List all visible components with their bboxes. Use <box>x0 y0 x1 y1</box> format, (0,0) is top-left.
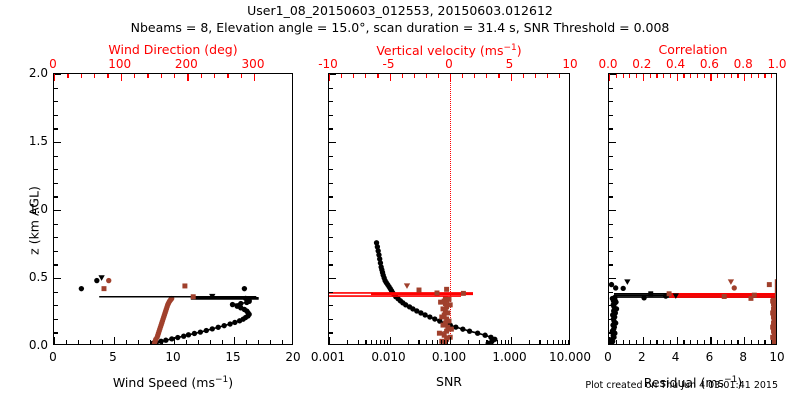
top-x-tick-mark-minor <box>724 74 725 78</box>
top-x-tick-label: 0.4 <box>666 58 685 70</box>
top-x-tick-mark-minor <box>629 74 630 78</box>
bottom-x-tick-mark-minor <box>670 340 671 344</box>
bottom-x-tick-mark <box>174 337 175 344</box>
y-tick-mark <box>54 210 61 211</box>
y-tick-mark <box>329 101 333 102</box>
top-x-tick-mark <box>390 74 391 81</box>
top-x-tick-mark <box>609 74 610 81</box>
top-x-tick-mark <box>121 74 122 81</box>
bottom-x-tick-label: 10 <box>769 351 784 363</box>
y-tick-mark <box>329 237 333 238</box>
panel-snr-bottom-axis-label: SNR <box>436 376 462 389</box>
figure-canvas: User1_08_20150603_012553, 20150603.01261… <box>0 0 800 400</box>
bottom-x-tick-mark-minor <box>138 340 139 344</box>
bottom-x-tick-mark-minor <box>437 340 438 344</box>
bottom-x-tick-mark-minor <box>764 340 765 344</box>
series-point <box>475 331 480 336</box>
top-x-tick-mark-minor <box>683 74 684 78</box>
outlier-point <box>728 279 734 285</box>
top-x-tick-mark-minor <box>636 74 637 78</box>
top-x-tick-label: 5 <box>506 58 514 70</box>
bottom-x-tick-label: 0 <box>49 351 57 363</box>
bottom-x-tick-label: 1.000 <box>492 351 526 363</box>
bottom-x-tick-label: 15 <box>225 351 240 363</box>
series-point <box>186 332 191 337</box>
top-x-tick-mark-minor <box>704 74 705 78</box>
top-x-tick-mark-minor <box>377 74 378 78</box>
bottom-x-tick-mark-minor <box>558 340 559 344</box>
bottom-x-tick-mark-minor <box>387 340 388 344</box>
outlier-point <box>79 286 84 291</box>
series-point <box>181 333 186 338</box>
top-x-tick-mark-minor <box>201 74 202 78</box>
panel-wind-top-axis-label: Wind Direction (deg) <box>108 44 237 57</box>
outlier-point <box>667 291 672 296</box>
y-tick-mark <box>54 183 58 184</box>
series-point <box>374 240 379 245</box>
bottom-x-tick-mark-minor <box>508 340 509 344</box>
y-tick-mark <box>329 156 333 157</box>
y-tick-mark <box>329 224 333 225</box>
panel-wind <box>53 73 293 345</box>
bottom-x-tick-mark-minor <box>376 340 377 344</box>
bottom-x-tick-mark-minor <box>90 340 91 344</box>
top-x-tick-mark-minor <box>663 74 664 78</box>
top-x-tick-mark-minor <box>486 74 487 78</box>
y-tick-mark <box>54 196 58 197</box>
outlier-point <box>106 278 111 283</box>
series-point <box>230 302 235 307</box>
outlier-point <box>641 295 646 300</box>
top-x-tick-mark-minor <box>214 74 215 78</box>
panel-snr <box>328 73 570 345</box>
bottom-x-tick-mark-minor <box>162 340 163 344</box>
series-point <box>198 329 203 334</box>
bottom-x-tick-mark-minor <box>529 340 530 344</box>
bottom-x-tick-mark-minor <box>771 340 772 344</box>
bottom-x-tick-mark-minor <box>358 340 359 344</box>
bottom-x-tick-mark-minor <box>663 340 664 344</box>
top-x-tick-mark-minor <box>547 74 548 78</box>
top-x-tick-label: 100 <box>108 58 131 70</box>
y-tick-mark <box>54 319 58 320</box>
y-tick-mark <box>329 210 336 211</box>
series-point <box>238 301 243 306</box>
bottom-x-tick-label: 10 <box>165 351 180 363</box>
top-x-tick-mark <box>54 74 55 81</box>
outlier-point <box>613 285 618 290</box>
bottom-x-tick-mark-minor <box>270 340 271 344</box>
y-tick-mark <box>54 264 58 265</box>
top-x-tick-label: 0.8 <box>734 58 753 70</box>
bottom-x-tick-mark-minor <box>650 340 651 344</box>
bottom-x-tick-mark-minor <box>690 340 691 344</box>
outlier-point <box>722 294 727 299</box>
panel-residual-plot-area <box>609 74 776 344</box>
bottom-x-tick-mark-minor <box>426 340 427 344</box>
y-tick-mark <box>54 128 58 129</box>
top-x-tick-mark-minor <box>147 74 148 78</box>
y-tick-mark <box>609 224 613 225</box>
panel-wind-series-layer <box>54 74 292 344</box>
top-x-tick-mark-minor <box>438 74 439 78</box>
top-x-tick-mark <box>187 74 188 81</box>
top-x-tick-label: 0 <box>49 58 57 70</box>
top-x-tick-label: -10 <box>318 58 338 70</box>
bottom-x-tick-mark-minor <box>258 340 259 344</box>
panel-snr-plot-area <box>329 74 569 344</box>
top-x-tick-mark-minor <box>227 74 228 78</box>
y-tick-mark <box>329 128 333 129</box>
figure-title-line1: User1_08_20150603_012553, 20150603.01261… <box>247 5 553 18</box>
bottom-x-tick-label: 0.100 <box>432 351 466 363</box>
top-x-tick-mark-minor <box>414 74 415 78</box>
top-x-tick-mark-minor <box>353 74 354 78</box>
top-x-tick-mark <box>677 74 678 81</box>
top-x-tick-mark <box>450 74 451 81</box>
y-tick-mark <box>54 305 58 306</box>
outlier-point <box>732 285 737 290</box>
bottom-x-tick-mark <box>677 337 678 344</box>
bottom-x-tick-mark-minor <box>683 340 684 344</box>
y-tick-mark <box>54 142 61 143</box>
bottom-x-tick-mark-minor <box>444 340 445 344</box>
series-point <box>467 328 472 333</box>
bottom-x-tick-mark <box>234 337 235 344</box>
outlier-point <box>624 279 630 285</box>
y-tick-mark <box>609 332 613 333</box>
series-point <box>453 324 458 329</box>
top-x-tick-mark-minor <box>737 74 738 78</box>
bottom-x-tick-mark <box>511 337 512 344</box>
top-x-tick-mark-minor <box>690 74 691 78</box>
bottom-x-tick-mark <box>450 337 451 344</box>
top-x-tick-label: -5 <box>383 58 395 70</box>
y-tick-mark <box>609 292 613 293</box>
bottom-x-tick-mark <box>390 337 391 344</box>
top-x-tick-mark <box>744 74 745 81</box>
bottom-x-tick-mark-minor <box>102 340 103 344</box>
y-tick-label: 1.0 <box>29 203 48 215</box>
y-tick-mark <box>329 251 333 252</box>
series-point <box>427 314 432 319</box>
y-tick-label: 0.5 <box>29 271 48 283</box>
bottom-x-tick-mark-minor <box>505 340 506 344</box>
outlier-point <box>621 286 626 291</box>
top-x-tick-mark-minor <box>670 74 671 78</box>
top-x-tick-mark-minor <box>650 74 651 78</box>
bottom-x-tick-mark-minor <box>636 340 637 344</box>
bottom-x-tick-mark <box>114 337 115 344</box>
top-x-tick-mark-minor <box>161 74 162 78</box>
top-x-tick-mark-minor <box>134 74 135 78</box>
y-tick-mark <box>54 237 58 238</box>
outlier-point <box>609 282 614 287</box>
top-x-tick-mark-minor <box>616 74 617 78</box>
top-x-tick-mark-minor <box>559 74 560 78</box>
bottom-x-tick-mark-minor <box>246 340 247 344</box>
y-tick-mark <box>329 142 336 143</box>
outlier-point <box>748 296 753 301</box>
top-x-tick-mark-minor <box>241 74 242 78</box>
top-x-tick-mark-minor <box>474 74 475 78</box>
bottom-x-tick-mark-minor <box>198 340 199 344</box>
y-tick-mark <box>609 156 613 157</box>
y-tick-label: 0.0 <box>29 339 48 351</box>
top-x-tick-label: 0.6 <box>700 58 719 70</box>
top-x-tick-mark-minor <box>731 74 732 78</box>
outlier-point <box>444 287 449 292</box>
top-x-tick-mark-minor <box>535 74 536 78</box>
bottom-x-tick-mark-minor <box>704 340 705 344</box>
bottom-x-tick-label: 10.000 <box>549 351 591 363</box>
y-tick-mark <box>609 196 613 197</box>
y-tick-mark <box>54 115 58 116</box>
y-tick-mark <box>329 115 333 116</box>
series-point <box>432 316 437 321</box>
y-tick-mark <box>329 319 333 320</box>
top-x-tick-label: 300 <box>242 58 265 70</box>
outlier-point <box>242 286 247 291</box>
bottom-x-tick-mark <box>744 337 745 344</box>
top-x-tick-mark-minor <box>365 74 366 78</box>
bottom-x-tick-mark-minor <box>697 340 698 344</box>
y-tick-mark <box>609 264 613 265</box>
bottom-x-tick-mark-minor <box>432 340 433 344</box>
bottom-x-tick-mark-minor <box>486 340 487 344</box>
bottom-x-tick-mark <box>710 337 711 344</box>
bottom-x-tick-mark <box>54 337 55 344</box>
series-point <box>210 326 215 331</box>
y-tick-mark <box>329 305 333 306</box>
bottom-x-tick-mark-minor <box>384 340 385 344</box>
bottom-x-tick-mark-minor <box>731 340 732 344</box>
y-tick-mark <box>609 251 613 252</box>
bottom-x-tick-mark-minor <box>751 340 752 344</box>
bottom-x-tick-mark-minor <box>717 340 718 344</box>
bottom-x-tick-label: 0.010 <box>371 351 405 363</box>
y-tick-mark <box>54 156 58 157</box>
top-x-tick-mark <box>329 74 330 81</box>
series-point <box>460 326 465 331</box>
y-tick-mark <box>609 88 613 89</box>
top-x-tick-mark-minor <box>94 74 95 78</box>
bottom-x-tick-mark-minor <box>492 340 493 344</box>
series-point <box>448 302 453 307</box>
top-x-tick-mark-minor <box>341 74 342 78</box>
top-x-tick-mark-minor <box>426 74 427 78</box>
bottom-x-tick-mark-minor <box>441 340 442 344</box>
top-x-tick-mark-minor <box>717 74 718 78</box>
top-x-tick-mark <box>710 74 711 81</box>
bottom-x-tick-mark-minor <box>66 340 67 344</box>
bottom-x-tick-mark-minor <box>408 340 409 344</box>
top-x-tick-mark-minor <box>751 74 752 78</box>
top-x-tick-mark-minor <box>523 74 524 78</box>
y-tick-mark <box>329 264 333 265</box>
bottom-x-tick-mark-minor <box>629 340 630 344</box>
y-tick-mark <box>329 183 333 184</box>
series-point <box>232 320 237 325</box>
series-point <box>216 325 221 330</box>
series-point <box>204 328 209 333</box>
top-x-tick-mark-minor <box>498 74 499 78</box>
panel-snr-series-layer <box>329 74 569 344</box>
y-tick-mark <box>54 332 58 333</box>
series-point <box>437 331 442 336</box>
bottom-x-tick-mark-minor <box>126 340 127 344</box>
y-tick-mark <box>609 319 613 320</box>
series-point <box>227 321 232 326</box>
bottom-x-tick-mark-minor <box>78 340 79 344</box>
figure-subtitle-line2: Nbeams = 8, Elevation angle = 15.0°, sca… <box>131 22 670 35</box>
bottom-x-tick-label: 6 <box>706 351 714 363</box>
y-tick-mark <box>609 210 616 211</box>
outlier-point <box>182 283 187 288</box>
outlier-point <box>404 283 410 289</box>
bottom-x-tick-label: 8 <box>739 351 747 363</box>
top-x-tick-label: 0.2 <box>632 58 651 70</box>
bottom-x-tick-mark <box>643 337 644 344</box>
bottom-x-tick-mark-minor <box>150 340 151 344</box>
y-tick-mark <box>54 169 58 170</box>
top-x-tick-mark-minor <box>67 74 68 78</box>
panel-residual-series-layer <box>609 74 776 344</box>
series-point <box>163 338 168 343</box>
bottom-x-tick-mark-minor <box>758 340 759 344</box>
bottom-x-tick-mark-minor <box>616 340 617 344</box>
y-tick-mark <box>609 169 613 170</box>
top-x-tick-label: 200 <box>175 58 198 70</box>
y-tick-mark <box>54 101 58 102</box>
top-x-tick-label: 10 <box>562 58 577 70</box>
top-x-tick-mark-minor <box>623 74 624 78</box>
y-tick-mark <box>609 115 613 116</box>
y-tick-mark <box>329 332 333 333</box>
y-tick-mark <box>609 142 616 143</box>
bottom-x-tick-label: 2 <box>638 351 646 363</box>
top-x-tick-mark-minor <box>462 74 463 78</box>
y-tick-mark <box>329 196 333 197</box>
y-tick-mark <box>609 128 613 129</box>
panel-wind-bottom-axis-label: Wind Speed (ms−1) <box>113 376 233 390</box>
panel-residual <box>608 73 777 345</box>
panel-residual-bottom-axis-label: Residual (ms−1) <box>644 376 743 390</box>
bottom-x-tick-mark-minor <box>222 340 223 344</box>
bottom-x-tick-mark-minor <box>547 340 548 344</box>
top-x-tick-mark-minor <box>81 74 82 78</box>
bottom-x-tick-mark-minor <box>568 340 569 344</box>
y-tick-label: 1.5 <box>29 135 48 147</box>
y-tick-mark <box>329 278 336 279</box>
outlier-point <box>94 278 99 283</box>
series-point <box>175 335 180 340</box>
panel-snr-top-axis-label: Vertical velocity (ms−1) <box>376 44 521 58</box>
y-tick-mark <box>329 292 333 293</box>
top-x-tick-mark <box>511 74 512 81</box>
series-point <box>192 331 197 336</box>
bottom-x-tick-mark-minor <box>501 340 502 344</box>
top-x-tick-mark <box>254 74 255 81</box>
bottom-x-tick-mark-minor <box>468 340 469 344</box>
top-x-tick-mark-minor <box>764 74 765 78</box>
outlier-point <box>191 294 196 299</box>
bottom-x-tick-mark-minor <box>418 340 419 344</box>
top-x-tick-mark-minor <box>758 74 759 78</box>
bottom-x-tick-mark-minor <box>497 340 498 344</box>
bottom-x-tick-label: 0 <box>604 351 612 363</box>
bottom-x-tick-mark-minor <box>539 340 540 344</box>
bottom-x-tick-mark-minor <box>282 340 283 344</box>
bottom-x-tick-mark-minor <box>380 340 381 344</box>
bottom-x-tick-mark-minor <box>553 340 554 344</box>
y-tick-label: 2.0 <box>29 67 48 79</box>
y-tick-mark <box>329 169 333 170</box>
bottom-x-tick-mark-minor <box>210 340 211 344</box>
bottom-x-tick-mark-minor <box>656 340 657 344</box>
bottom-x-tick-mark-minor <box>479 340 480 344</box>
top-x-tick-label: 1.0 <box>767 58 786 70</box>
bottom-x-tick-mark-minor <box>447 340 448 344</box>
panel-residual-top-axis-label: Correlation <box>659 44 728 57</box>
outlier-point <box>435 290 440 295</box>
bottom-x-tick-mark-minor <box>347 340 348 344</box>
top-x-tick-mark-minor <box>402 74 403 78</box>
top-x-tick-mark <box>643 74 644 81</box>
series-point <box>482 333 487 338</box>
top-x-tick-label: 0 <box>445 58 453 70</box>
outlier-point <box>417 288 422 293</box>
y-tick-mark <box>54 251 58 252</box>
bottom-x-tick-mark <box>329 337 330 344</box>
bottom-x-tick-label: 5 <box>109 351 117 363</box>
y-tick-mark <box>609 237 613 238</box>
bottom-x-tick-mark-minor <box>186 340 187 344</box>
outlier-point <box>102 286 107 291</box>
bottom-x-tick-mark-minor <box>565 340 566 344</box>
bottom-x-tick-mark-minor <box>365 340 366 344</box>
outlier-point <box>461 291 466 296</box>
bottom-x-tick-mark-minor <box>724 340 725 344</box>
y-tick-mark <box>54 292 58 293</box>
top-x-tick-mark-minor <box>656 74 657 78</box>
series-point <box>221 323 226 328</box>
bottom-x-tick-mark-minor <box>737 340 738 344</box>
bottom-x-tick-mark-minor <box>562 340 563 344</box>
bottom-x-tick-mark-minor <box>371 340 372 344</box>
y-tick-mark <box>329 88 333 89</box>
bottom-x-tick-mark-minor <box>623 340 624 344</box>
y-tick-mark <box>54 88 58 89</box>
bottom-x-tick-label: 0.001 <box>311 351 345 363</box>
bottom-x-tick-label: 20 <box>285 351 300 363</box>
top-x-tick-mark-minor <box>107 74 108 78</box>
y-tick-mark <box>54 224 58 225</box>
y-tick-mark <box>609 278 616 279</box>
panel-wind-plot-area <box>54 74 292 344</box>
outlier-point <box>767 282 772 287</box>
y-tick-mark <box>54 278 61 279</box>
top-x-tick-label: 0.0 <box>598 58 617 70</box>
outlier-point <box>648 291 653 296</box>
top-x-tick-mark-minor <box>174 74 175 78</box>
top-x-tick-mark-minor <box>697 74 698 78</box>
bottom-x-tick-mark <box>609 337 610 344</box>
y-tick-mark <box>609 305 613 306</box>
y-tick-mark <box>609 101 613 102</box>
y-tick-mark <box>609 183 613 184</box>
bottom-x-tick-label: 4 <box>672 351 680 363</box>
